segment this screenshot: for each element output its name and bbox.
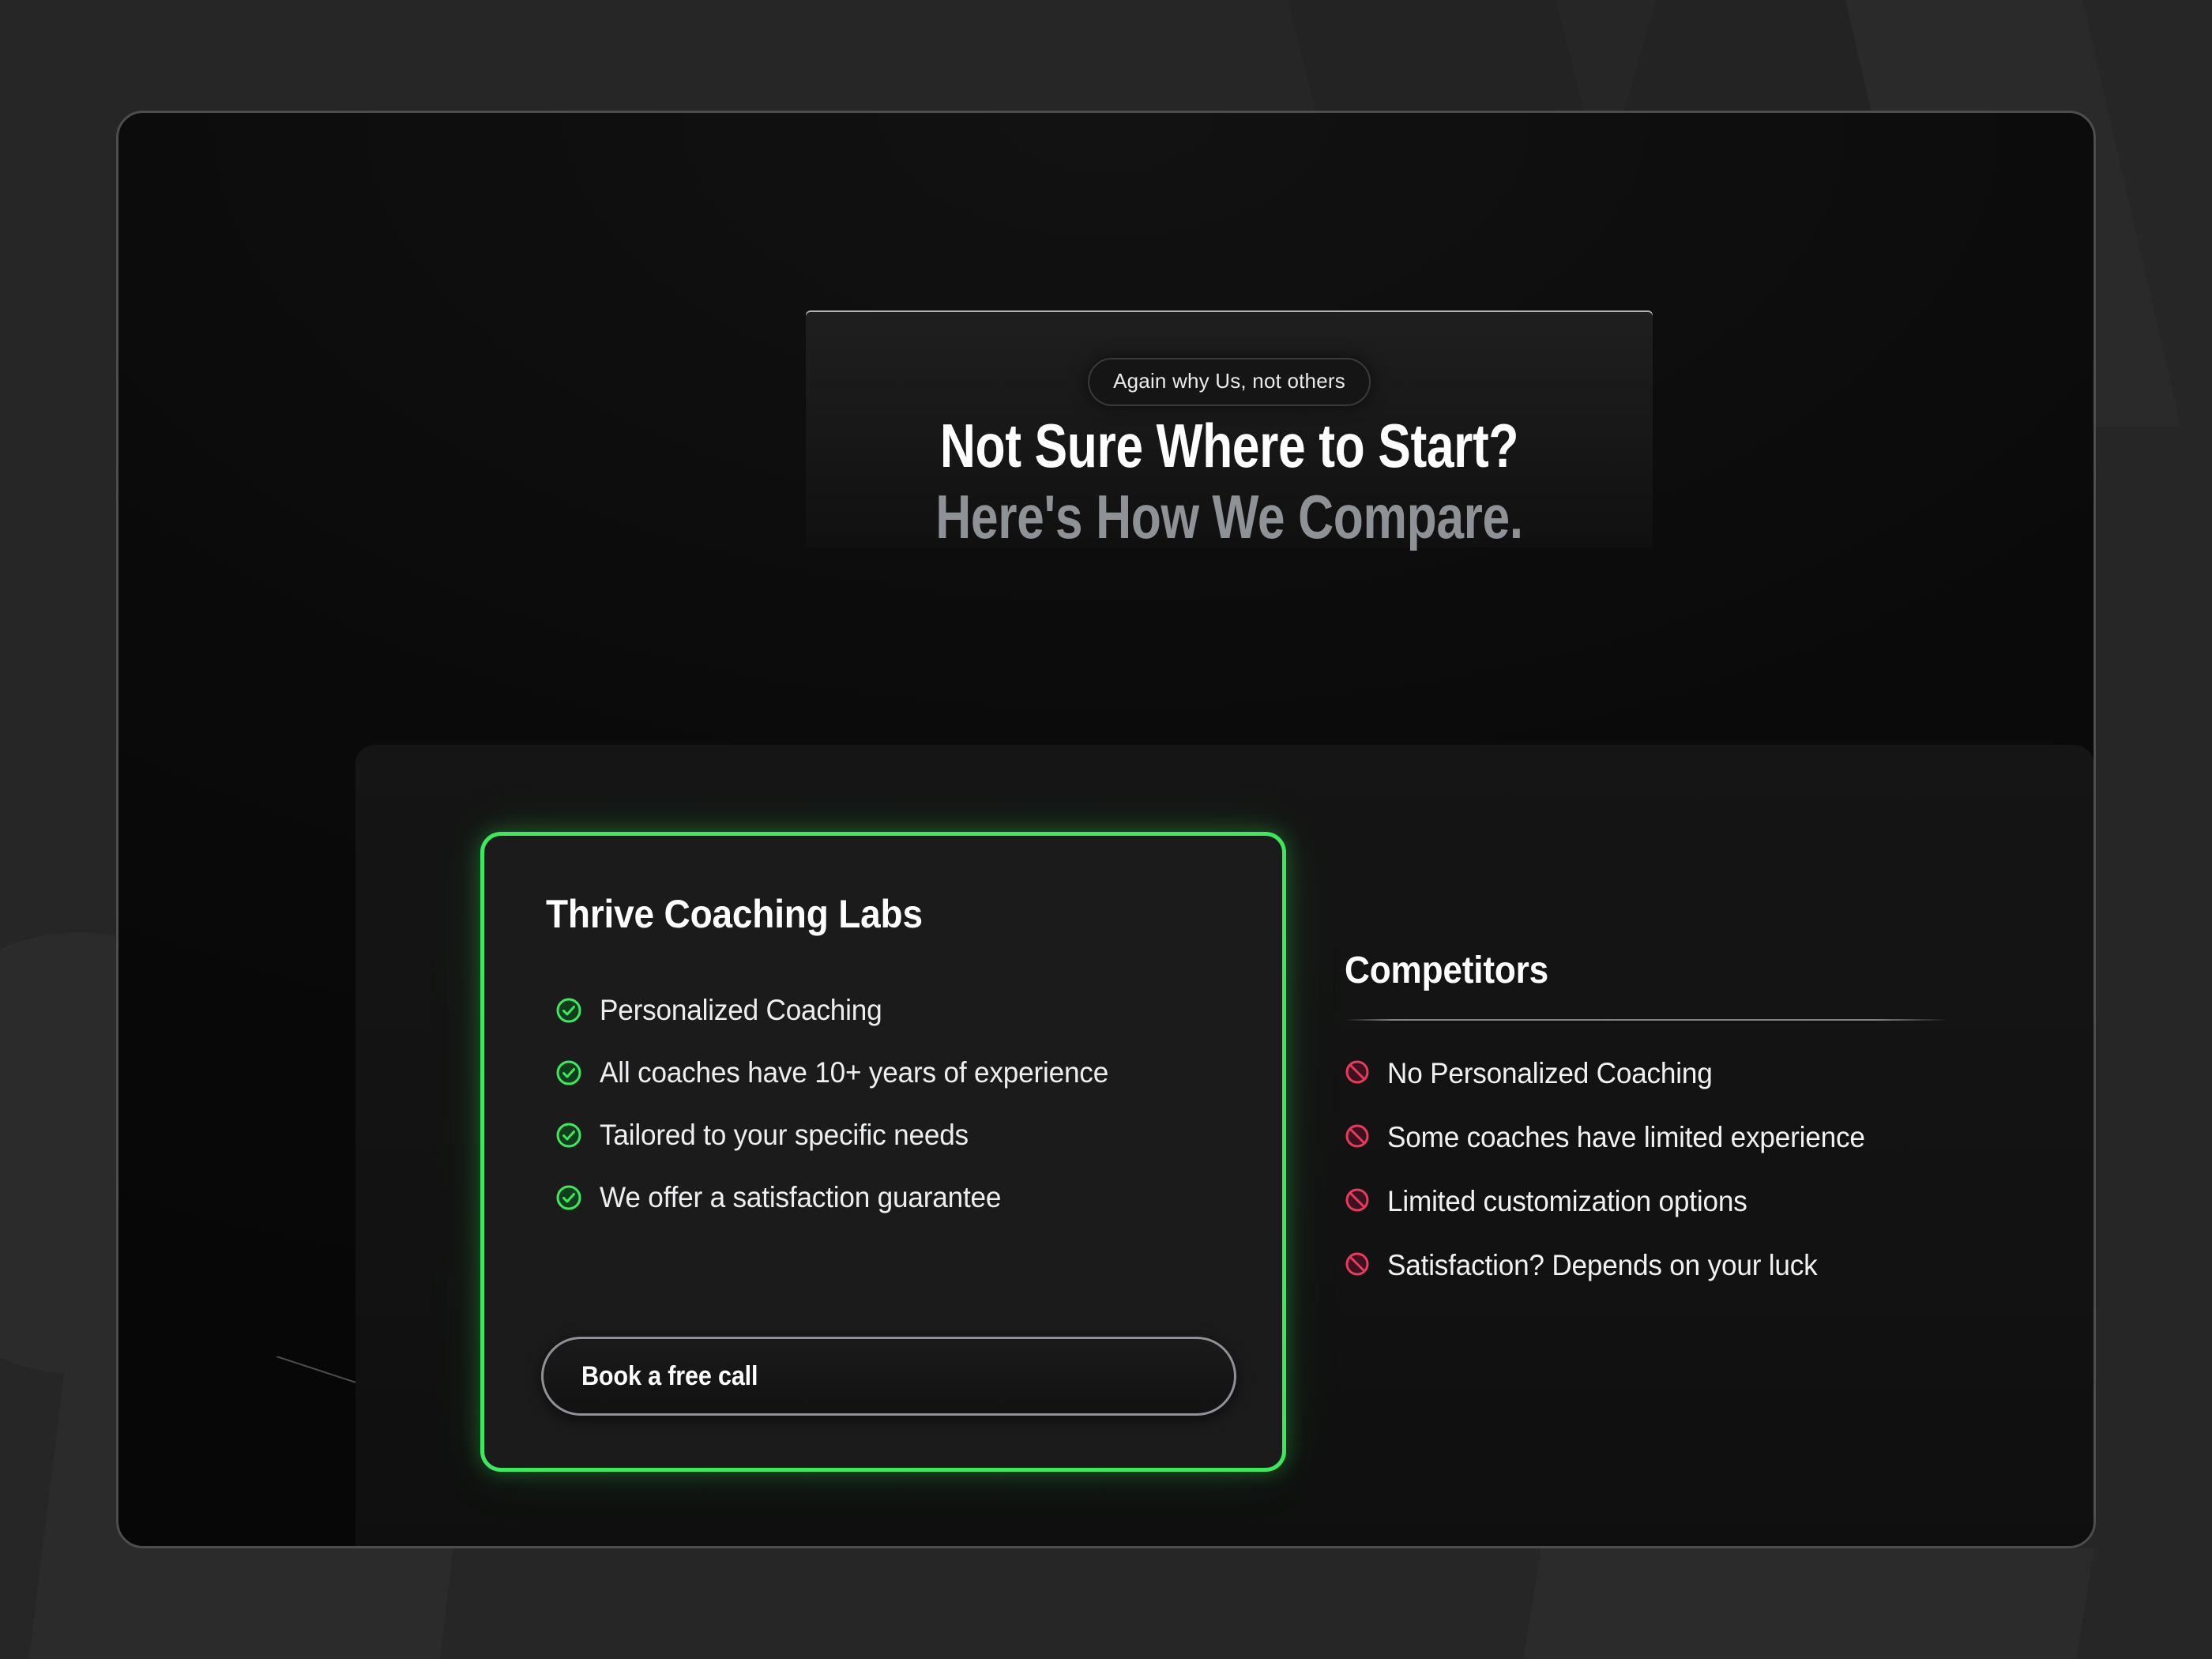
competitors-divider [1345,1019,1949,1021]
background-wedge-bottom [1508,1548,2093,1659]
book-a-free-call-button[interactable]: Book a free call [541,1337,1236,1416]
book-a-free-call-label: Book a free call [581,1361,758,1392]
our-benefits-list: Personalized Coaching All coaches have 1… [555,994,1251,1215]
ban-icon [1345,1059,1370,1089]
check-circle-icon [555,997,582,1028]
list-item: We offer a satisfaction guarantee [555,1181,1251,1215]
section-badge: Again why Us, not others [1088,358,1371,406]
list-item-label: No Personalized Coaching [1387,1055,1713,1091]
list-item: Personalized Coaching [555,994,1251,1028]
competitors-column: Competitors No Personalized Coaching [1345,949,1992,1284]
list-item: Satisfaction? Depends on your luck [1345,1247,1992,1283]
list-item-label: Satisfaction? Depends on your luck [1387,1247,1818,1283]
check-circle-icon [555,1184,582,1215]
ban-icon [1345,1187,1370,1217]
our-offer-card: Thrive Coaching Labs Personalized Coachi… [480,832,1286,1472]
list-item: Limited customization options [1345,1183,1992,1219]
check-circle-icon [555,1059,582,1090]
page-background: Again why Us, not others Not Sure Where … [0,0,2212,1659]
device-frame: Again why Us, not others Not Sure Where … [116,111,2096,1548]
competitors-title: Competitors [1345,949,1940,992]
list-item-label: Tailored to your specific needs [600,1119,969,1151]
headline-line-2: Here's How We Compare. [890,486,1568,549]
ban-icon [1345,1251,1370,1281]
list-item-label: Limited customization options [1387,1183,1747,1219]
list-item-label: We offer a satisfaction guarantee [600,1181,1001,1213]
list-item-label: Personalized Coaching [600,994,882,1026]
list-item: All coaches have 10+ years of experience [555,1056,1251,1090]
our-offer-title: Thrive Coaching Labs [546,891,923,937]
competitors-list: No Personalized Coaching Some coaches ha… [1345,1055,1992,1284]
list-item: No Personalized Coaching [1345,1055,1992,1091]
list-item: Some coaches have limited experience [1345,1119,1992,1155]
headline-line-1: Not Sure Where to Start? [890,415,1568,478]
page-title: Not Sure Where to Start? Here's How We C… [890,415,1568,548]
list-item: Tailored to your specific needs [555,1119,1251,1153]
list-item-label: All coaches have 10+ years of experience [600,1056,1108,1089]
hero-panel: Again why Us, not others Not Sure Where … [806,310,1653,547]
check-circle-icon [555,1122,582,1153]
comparison-panel: Thrive Coaching Labs Personalized Coachi… [355,745,2093,1548]
ban-icon [1345,1123,1370,1153]
list-item-label: Some coaches have limited experience [1387,1119,1865,1155]
